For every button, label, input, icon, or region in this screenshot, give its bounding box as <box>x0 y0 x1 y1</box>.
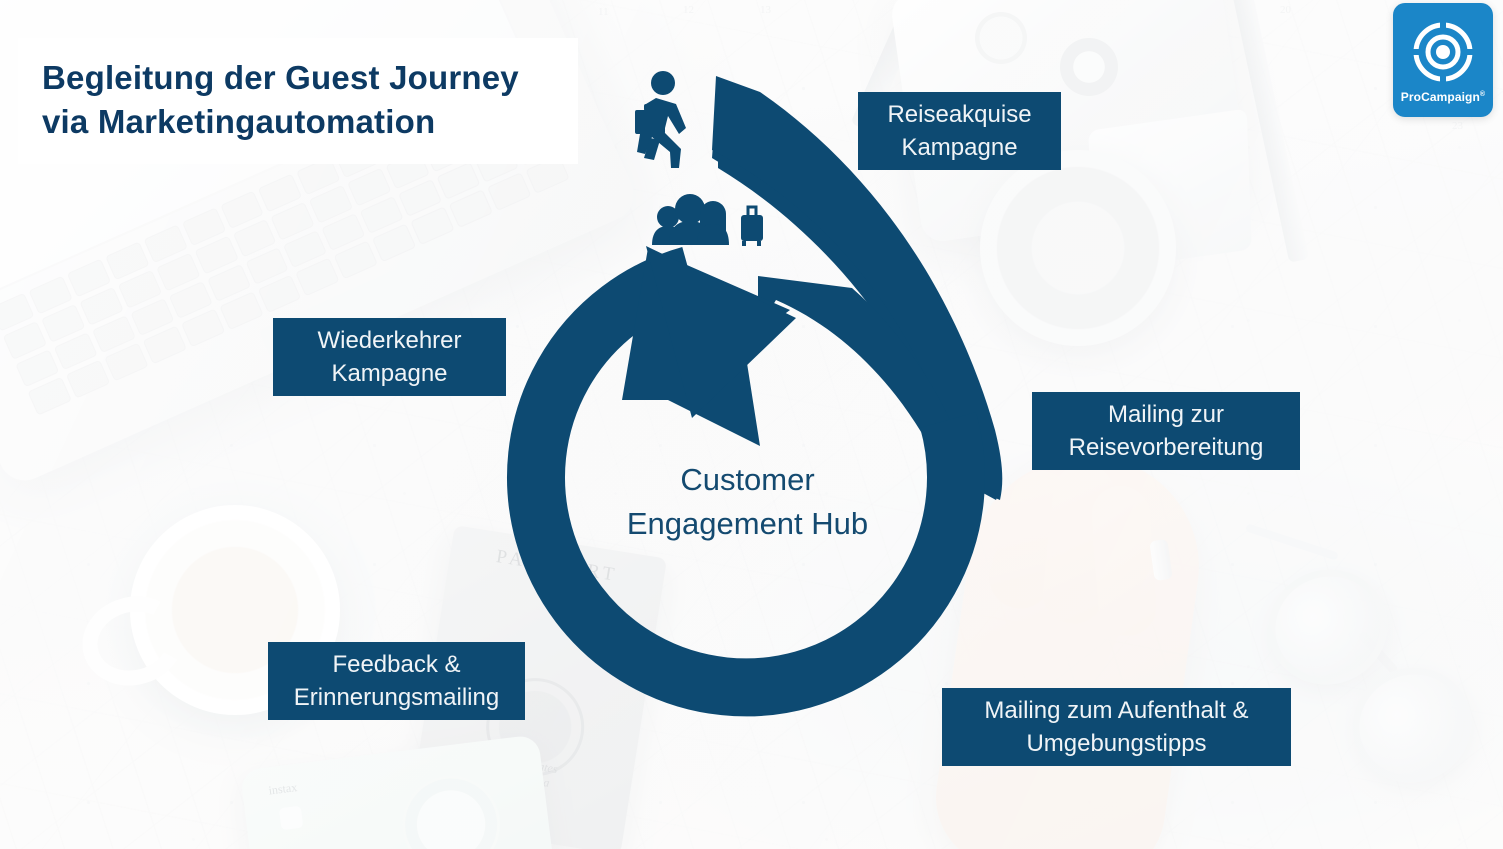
family-group-with-rolling-suitcase-icon <box>652 194 763 246</box>
step-label-feedback[interactable]: Feedback & Erinnerungsmailing <box>268 642 525 720</box>
logo-wordmark: ProCampaign® <box>1393 90 1493 104</box>
step-label-reiseakquise[interactable]: Reiseakquise Kampagne <box>858 92 1061 170</box>
slide-canvas: 11 12 13 15 16 18 19 20 22 23 <box>0 0 1503 849</box>
slide-title-panel: Begleitung der Guest Journey via Marketi… <box>18 38 578 164</box>
page-title: Begleitung der Guest Journey via Marketi… <box>42 56 556 144</box>
step-label-mailing-vorbereitung[interactable]: Mailing zur Reisevorbereitung <box>1032 392 1300 470</box>
hub-center-label: Customer Engagement Hub <box>575 458 920 546</box>
logo-registered-mark: ® <box>1480 91 1485 98</box>
procampaign-logo[interactable]: ProCampaign® <box>1393 3 1493 117</box>
logo-name: ProCampaign <box>1401 90 1480 104</box>
step-label-wiederkehrer[interactable]: Wiederkehrer Kampagne <box>273 318 506 396</box>
step-label-mailing-aufenthalt[interactable]: Mailing zum Aufenthalt & Umgebungstipps <box>942 688 1291 766</box>
concentric-target-icon <box>1410 19 1476 85</box>
walking-traveler-with-suitcase-icon <box>635 71 686 168</box>
